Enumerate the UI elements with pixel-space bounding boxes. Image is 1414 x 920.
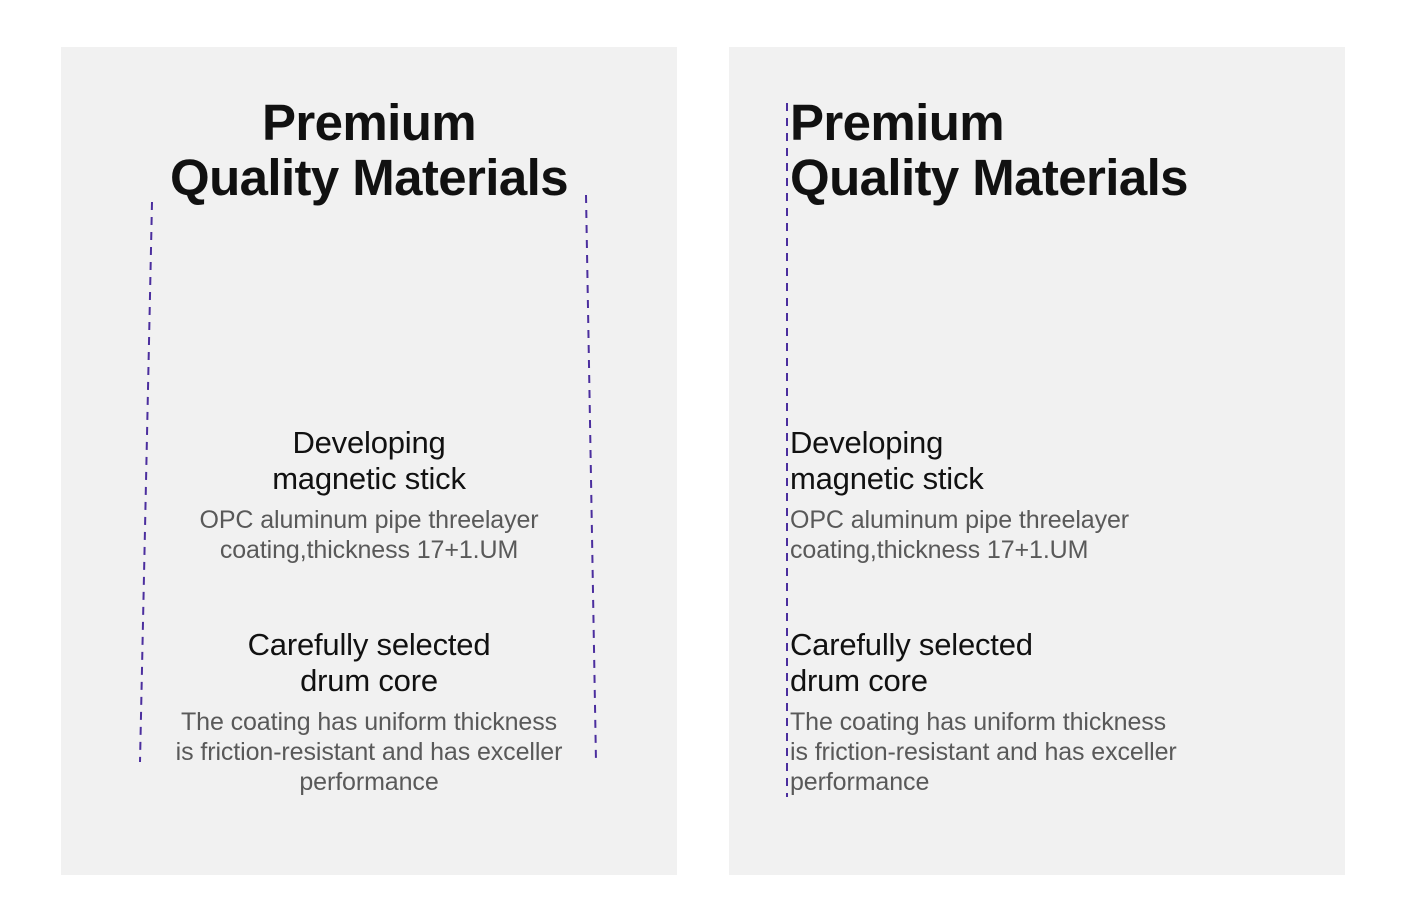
- feature-block-developing-magnetic-stick: Developing magnetic stick OPC aluminum p…: [790, 425, 1330, 565]
- page-title: Premium Quality Materials: [790, 96, 1330, 205]
- right-panel-content: Premium Quality Materials Developing mag…: [729, 47, 1345, 875]
- feature-description: The coating has uniform thickness is fri…: [61, 707, 677, 797]
- feature-block-drum-core: Carefully selected drum core The coating…: [790, 627, 1330, 797]
- feature-title: Developing magnetic stick: [790, 425, 1330, 497]
- left-panel-content: Premium Quality Materials Developing mag…: [61, 47, 677, 875]
- feature-title: Carefully selected drum core: [61, 627, 677, 699]
- feature-title: Developing magnetic stick: [61, 425, 677, 497]
- feature-description: OPC aluminum pipe threelayer coating,thi…: [61, 505, 677, 565]
- comparison-canvas: Premium Quality Materials Developing mag…: [0, 0, 1414, 920]
- feature-description: OPC aluminum pipe threelayer coating,thi…: [790, 505, 1330, 565]
- feature-block-drum-core: Carefully selected drum core The coating…: [61, 627, 677, 797]
- feature-title: Carefully selected drum core: [790, 627, 1330, 699]
- page-title: Premium Quality Materials: [61, 96, 677, 205]
- left-aligned-layout-panel: Premium Quality Materials Developing mag…: [729, 47, 1345, 875]
- centered-layout-panel: Premium Quality Materials Developing mag…: [61, 47, 677, 875]
- feature-description: The coating has uniform thickness is fri…: [790, 707, 1330, 797]
- feature-block-developing-magnetic-stick: Developing magnetic stick OPC aluminum p…: [61, 425, 677, 565]
